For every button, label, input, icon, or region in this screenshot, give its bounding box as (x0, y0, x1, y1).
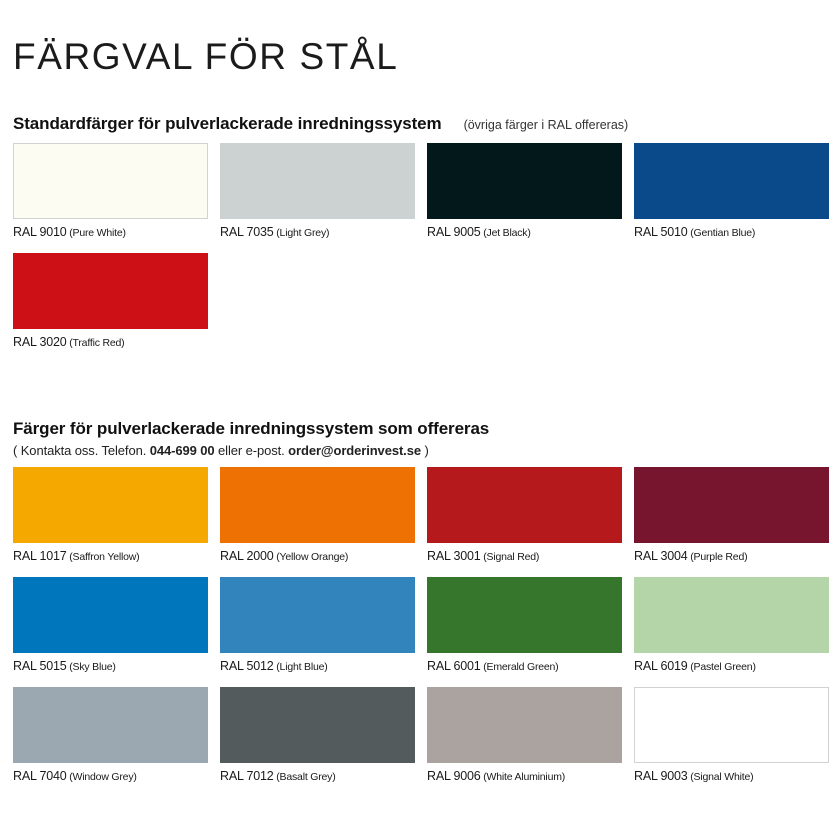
ral-colour-name: (Jet Black) (481, 227, 531, 239)
colour-swatch (427, 577, 622, 653)
ral-code: RAL 7012 (220, 769, 274, 783)
colour-swatch-cell: RAL 9003 (Signal White) (634, 687, 829, 783)
colour-swatch (220, 143, 415, 219)
ral-colour-name: (Purple Red) (688, 551, 748, 563)
ral-colour-name: (Window Grey) (67, 771, 137, 783)
contact-line: ( Kontakta oss. Telefon. 044-699 00 elle… (13, 443, 827, 458)
colour-swatch (220, 687, 415, 763)
contact-phone: 044-699 00 (150, 443, 215, 458)
colour-swatch (427, 467, 622, 543)
ral-code: RAL 9006 (427, 769, 481, 783)
colour-swatch-cell: RAL 6019 (Pastel Green) (634, 577, 829, 673)
colour-label: RAL 6001 (Emerald Green) (427, 659, 622, 673)
swatch-grid-offered: RAL 1017 (Saffron Yellow)RAL 2000 (Yello… (13, 467, 827, 797)
colour-swatch-cell: RAL 5012 (Light Blue) (220, 577, 415, 673)
colour-swatch-cell: RAL 9006 (White Aluminium) (427, 687, 622, 783)
colour-label: RAL 7012 (Basalt Grey) (220, 769, 415, 783)
contact-suffix: ) (424, 443, 428, 458)
colour-label: RAL 9005 (Jet Black) (427, 225, 622, 239)
colour-swatch-cell: RAL 7012 (Basalt Grey) (220, 687, 415, 783)
section-standard-colours: Standardfärger för pulverlackerade inred… (13, 77, 827, 363)
colour-swatch-cell: RAL 6001 (Emerald Green) (427, 577, 622, 673)
colour-swatch-cell: RAL 7040 (Window Grey) (13, 687, 208, 783)
ral-colour-name: (Traffic Red) (67, 337, 125, 349)
ral-colour-name: (Basalt Grey) (274, 771, 336, 783)
colour-swatch (13, 143, 208, 219)
colour-label: RAL 7040 (Window Grey) (13, 769, 208, 783)
colour-label: RAL 9010 (Pure White) (13, 225, 208, 239)
ral-code: RAL 3004 (634, 549, 688, 563)
colour-swatch-cell: RAL 9005 (Jet Black) (427, 143, 622, 239)
colour-swatch (634, 143, 829, 219)
ral-colour-name: (Emerald Green) (481, 661, 559, 673)
ral-colour-name: (Yellow Orange) (274, 551, 349, 563)
ral-colour-name: (Light Blue) (274, 661, 328, 673)
ral-code: RAL 9010 (13, 225, 67, 239)
ral-colour-name: (Pastel Green) (688, 661, 756, 673)
colour-label: RAL 3020 (Traffic Red) (13, 335, 208, 349)
section-header: Färger för pulverlackerade inredningssys… (13, 382, 827, 439)
ral-code: RAL 6001 (427, 659, 481, 673)
colour-swatch (13, 467, 208, 543)
colour-swatch-cell: RAL 3020 (Traffic Red) (13, 253, 208, 349)
colour-label: RAL 6019 (Pastel Green) (634, 659, 829, 673)
colour-swatch (13, 253, 208, 329)
colour-label: RAL 3004 (Purple Red) (634, 549, 829, 563)
ral-colour-name: (Signal Red) (481, 551, 540, 563)
ral-colour-name: (Saffron Yellow) (67, 551, 140, 563)
colour-swatch (427, 143, 622, 219)
colour-label: RAL 9006 (White Aluminium) (427, 769, 622, 783)
section-title: Standardfärger för pulverlackerade inred… (13, 114, 442, 134)
colour-label: RAL 5010 (Gentian Blue) (634, 225, 829, 239)
page-title: FÄRGVAL FÖR STÅL (13, 0, 827, 77)
ral-code: RAL 5012 (220, 659, 274, 673)
ral-colour-name: (Signal White) (688, 771, 754, 783)
section-note: (övriga färger i RAL offereras) (464, 118, 629, 132)
colour-swatch (13, 577, 208, 653)
swatch-grid-standard: RAL 9010 (Pure White)RAL 7035 (Light Gre… (13, 143, 827, 363)
contact-email: order@orderinvest.se (288, 443, 421, 458)
section-title: Färger för pulverlackerade inredningssys… (13, 419, 489, 439)
ral-colour-name: (Sky Blue) (67, 661, 116, 673)
colour-swatch-cell: RAL 2000 (Yellow Orange) (220, 467, 415, 563)
ral-colour-name: (Light Grey) (274, 227, 330, 239)
colour-swatch (220, 467, 415, 543)
ral-colour-name: (White Aluminium) (481, 771, 566, 783)
colour-swatch-cell: RAL 5010 (Gentian Blue) (634, 143, 829, 239)
colour-swatch-cell: RAL 9010 (Pure White) (13, 143, 208, 239)
colour-swatch (220, 577, 415, 653)
colour-swatch-cell: RAL 7035 (Light Grey) (220, 143, 415, 239)
colour-chart-page: FÄRGVAL FÖR STÅL Standardfärger för pulv… (0, 0, 840, 840)
ral-code: RAL 7040 (13, 769, 67, 783)
ral-code: RAL 2000 (220, 549, 274, 563)
ral-code: RAL 9003 (634, 769, 688, 783)
colour-swatch-cell: RAL 3004 (Purple Red) (634, 467, 829, 563)
colour-swatch (634, 467, 829, 543)
colour-label: RAL 5012 (Light Blue) (220, 659, 415, 673)
colour-swatch (427, 687, 622, 763)
colour-swatch (634, 577, 829, 653)
colour-label: RAL 1017 (Saffron Yellow) (13, 549, 208, 563)
ral-code: RAL 5015 (13, 659, 67, 673)
colour-swatch-cell: RAL 3001 (Signal Red) (427, 467, 622, 563)
ral-code: RAL 9005 (427, 225, 481, 239)
ral-code: RAL 1017 (13, 549, 67, 563)
colour-swatch-cell: RAL 5015 (Sky Blue) (13, 577, 208, 673)
colour-label: RAL 7035 (Light Grey) (220, 225, 415, 239)
contact-prefix: ( Kontakta oss. Telefon. (13, 443, 146, 458)
colour-swatch (13, 687, 208, 763)
colour-swatch (634, 687, 829, 763)
section-header: Standardfärger för pulverlackerade inred… (13, 77, 827, 134)
colour-swatch-cell: RAL 1017 (Saffron Yellow) (13, 467, 208, 563)
colour-label: RAL 2000 (Yellow Orange) (220, 549, 415, 563)
ral-code: RAL 3001 (427, 549, 481, 563)
ral-code: RAL 3020 (13, 335, 67, 349)
colour-label: RAL 9003 (Signal White) (634, 769, 829, 783)
ral-code: RAL 6019 (634, 659, 688, 673)
ral-colour-name: (Gentian Blue) (688, 227, 756, 239)
ral-colour-name: (Pure White) (67, 227, 126, 239)
section-offered-colours: Färger för pulverlackerade inredningssys… (13, 363, 827, 797)
contact-middle: eller e-post. (218, 443, 285, 458)
colour-label: RAL 5015 (Sky Blue) (13, 659, 208, 673)
ral-code: RAL 7035 (220, 225, 274, 239)
colour-label: RAL 3001 (Signal Red) (427, 549, 622, 563)
ral-code: RAL 5010 (634, 225, 688, 239)
